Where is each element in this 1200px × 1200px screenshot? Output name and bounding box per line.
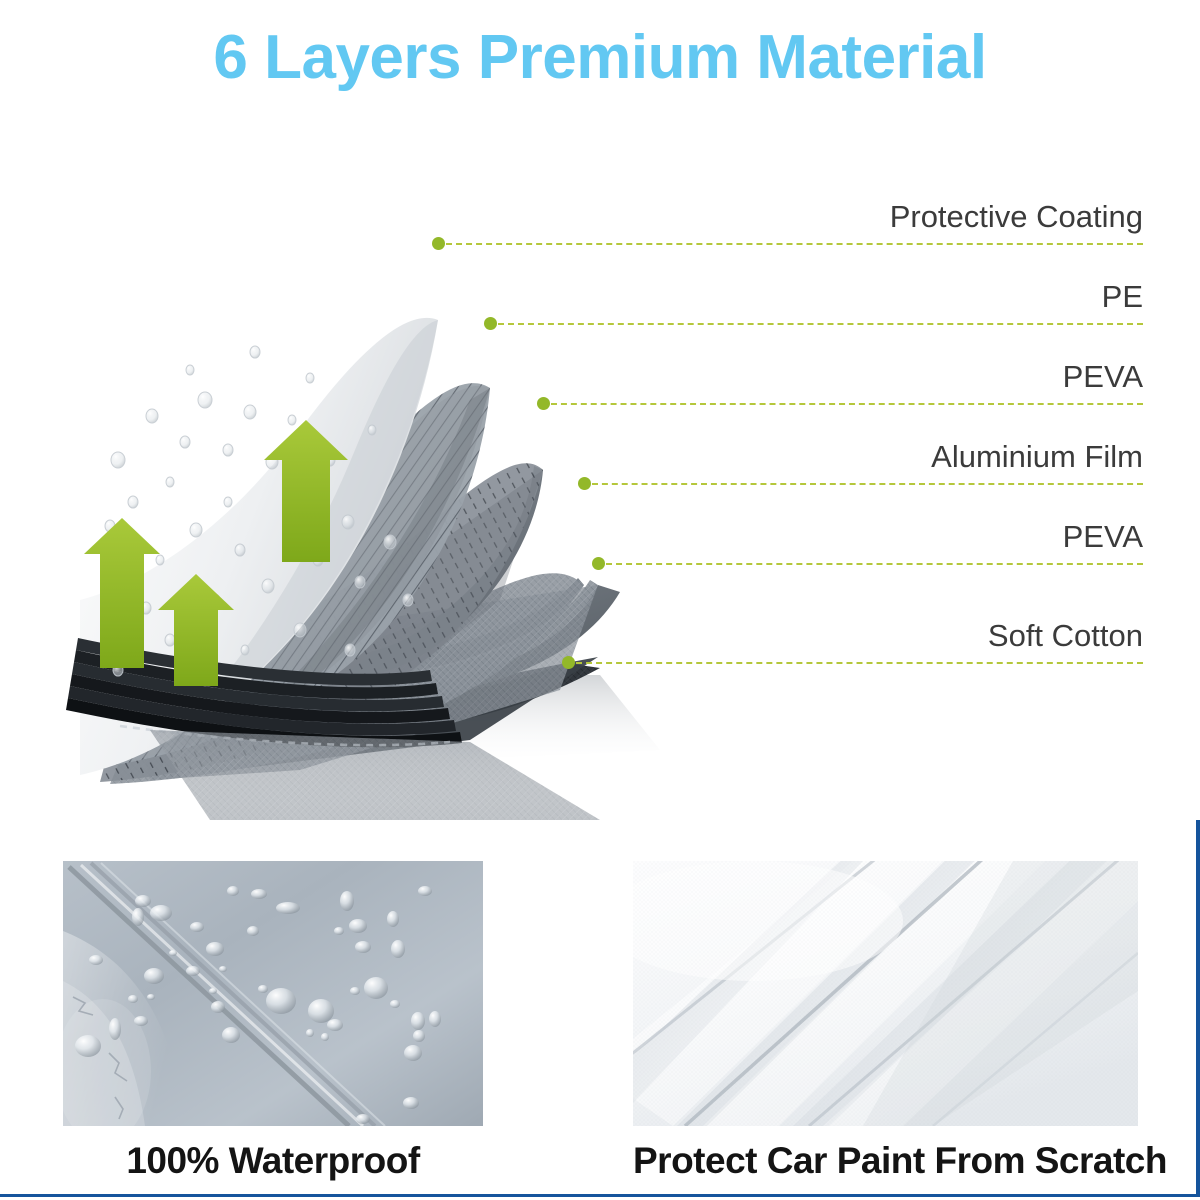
layer-label-soft-cotton: Soft Cotton	[988, 618, 1143, 654]
callout-dashed-line	[446, 243, 1143, 245]
callout-dot	[484, 317, 497, 330]
feature-scratch-protection: Protect Car Paint From Scratch	[633, 861, 1138, 1182]
layer-label-pe: PE	[1102, 279, 1143, 315]
layer-label-aluminium-film: Aluminium Film	[931, 439, 1143, 475]
layer-label-protective-coating: Protective Coating	[890, 199, 1143, 235]
feature-caption-scratch-protection: Protect Car Paint From Scratch	[633, 1140, 1138, 1182]
callout-dashed-line	[576, 662, 1143, 664]
callout-dot	[432, 237, 445, 250]
callout-dot	[578, 477, 591, 490]
feature-waterproof: 100% Waterproof	[63, 861, 483, 1182]
page-title: 6 Layers Premium Material	[0, 22, 1200, 93]
layer-label-peva-upper: PEVA	[1063, 359, 1143, 395]
waterproof-fabric-photo	[63, 861, 483, 1126]
product-infographic: 6 Layers Premium Material	[0, 0, 1200, 1200]
feature-caption-waterproof: 100% Waterproof	[63, 1140, 483, 1182]
callout-dot	[592, 557, 605, 570]
layers-diagram-panel: Protective Coating PE PEVA Aluminium Fil…	[0, 130, 1200, 820]
callout-dashed-line	[592, 483, 1143, 485]
soft-cotton-lining-photo	[633, 861, 1138, 1126]
layer-label-peva-lower: PEVA	[1063, 519, 1143, 555]
callout-dot	[562, 656, 575, 669]
callout-dashed-line	[498, 323, 1143, 325]
callout-dashed-line	[606, 563, 1143, 565]
callout-dashed-line	[551, 403, 1143, 405]
callout-dot	[537, 397, 550, 410]
bottom-edge-accent	[0, 1194, 1200, 1197]
